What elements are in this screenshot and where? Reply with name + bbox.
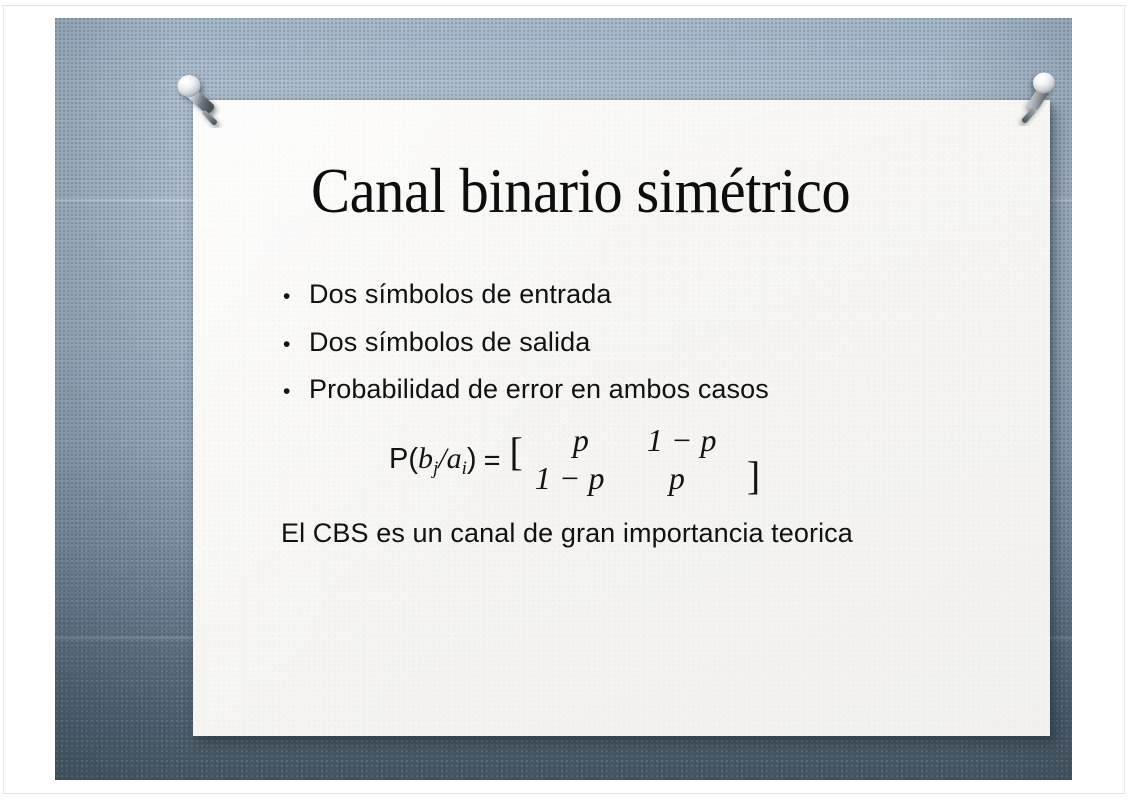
frame-border-top bbox=[2, 5, 1126, 6]
matrix-bracket-close: ] bbox=[747, 456, 760, 496]
formula-var-a: a bbox=[447, 442, 462, 475]
bullet-dot-icon: • bbox=[283, 334, 309, 355]
bullet-list: • Dos símbolos de entrada • Dos símbolos… bbox=[283, 280, 983, 423]
formula-close-paren: ) bbox=[467, 443, 477, 475]
frame-border-left bbox=[3, 5, 4, 794]
closing-paragraph: El CBS es un canal de gran importancia t… bbox=[281, 514, 881, 553]
list-item-label: Probabilidad de error en ambos casos bbox=[309, 375, 769, 404]
page-title: Canal binario simétrico bbox=[311, 158, 850, 224]
slide-content: Canal binario simétrico • Dos símbolos d… bbox=[193, 100, 1050, 736]
matrix-bracket-open: [ bbox=[510, 432, 523, 472]
list-item: • Probabilidad de error en ambos casos bbox=[283, 375, 983, 404]
matrix-cell-r1c2: 1 − p bbox=[647, 422, 717, 459]
paper-sheet: Canal binario simétrico • Dos símbolos d… bbox=[193, 100, 1050, 736]
list-item: • Dos símbolos de entrada bbox=[283, 280, 983, 309]
fabric-board-background: Canal binario simétrico • Dos símbolos d… bbox=[55, 18, 1072, 780]
formula-equals-sign: = bbox=[484, 445, 501, 478]
list-item-label: Dos símbolos de entrada bbox=[309, 280, 611, 309]
matrix-body: p 1 − p 1 − p p bbox=[529, 422, 741, 500]
bullet-dot-icon: • bbox=[283, 286, 309, 307]
frame-border-right bbox=[1124, 5, 1125, 794]
matrix-cell-r2c1: 1 − p bbox=[535, 460, 605, 497]
formula-p-label: P( bbox=[389, 443, 418, 475]
list-item: • Dos símbolos de salida bbox=[283, 328, 983, 357]
formula-slash: / bbox=[438, 442, 446, 475]
formula-var-b: b bbox=[418, 442, 433, 475]
matrix-cell-r1c1: p bbox=[573, 422, 589, 459]
probability-matrix-formula: P(bj/ai) = [ p 1 − p 1 − p p ] bbox=[389, 422, 760, 500]
bullet-dot-icon: • bbox=[283, 381, 309, 402]
frame-border-bottom bbox=[2, 793, 1126, 794]
formula-lhs: P(bj/ai) bbox=[389, 442, 477, 480]
list-item-label: Dos símbolos de salida bbox=[309, 328, 590, 357]
matrix-cell-r2c2: p bbox=[669, 460, 685, 497]
slide-frame: Canal binario simétrico • Dos símbolos d… bbox=[0, 0, 1128, 800]
